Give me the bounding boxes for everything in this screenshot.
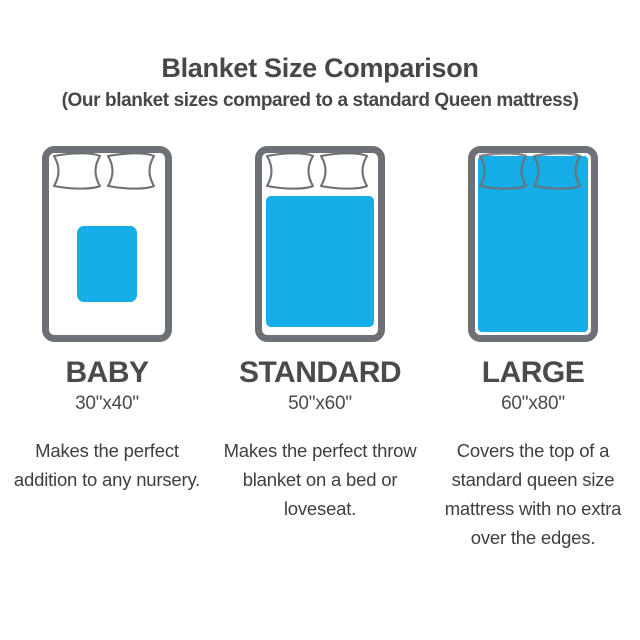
page-subtitle: (Our blanket sizes compared to a standar… (0, 88, 640, 114)
size-column-baby: BABY 30"x40" Makes the perfect addition … (1, 146, 214, 494)
size-dimensions-standard: 50"x60" (288, 392, 352, 416)
size-column-standard: STANDARD 50"x60" Makes the perfect throw… (214, 146, 427, 523)
pillow-left-icon (267, 153, 313, 188)
size-name-baby: BABY (65, 356, 148, 390)
size-columns: BABY 30"x40" Makes the perfect addition … (0, 146, 640, 552)
pillow-right-icon (321, 153, 367, 188)
pillow-left-icon (54, 153, 100, 188)
size-dimensions-baby: 30"x40" (75, 392, 139, 416)
bed-diagram-baby (42, 146, 172, 342)
size-name-large: LARGE (482, 356, 585, 390)
size-description-large: Covers the top of a standard queen size … (435, 436, 631, 552)
size-description-standard: Makes the perfect throw blanket on a bed… (222, 436, 418, 523)
header: Blanket Size Comparison (Our blanket siz… (0, 52, 640, 114)
blanket-rect-large (478, 156, 588, 332)
bed-diagram-standard (255, 146, 385, 342)
blanket-rect-baby (77, 226, 137, 302)
blanket-size-comparison-infographic: Blanket Size Comparison (Our blanket siz… (0, 0, 640, 640)
blanket-rect-standard (266, 196, 374, 327)
page-title: Blanket Size Comparison (0, 52, 640, 84)
size-dimensions-large: 60"x80" (501, 392, 565, 416)
size-column-large: LARGE 60"x80" Covers the top of a standa… (427, 146, 640, 552)
bed-diagram-large (468, 146, 598, 342)
size-description-baby: Makes the perfect addition to any nurser… (9, 436, 205, 494)
size-name-standard: STANDARD (239, 356, 401, 390)
pillow-right-icon (108, 153, 154, 188)
